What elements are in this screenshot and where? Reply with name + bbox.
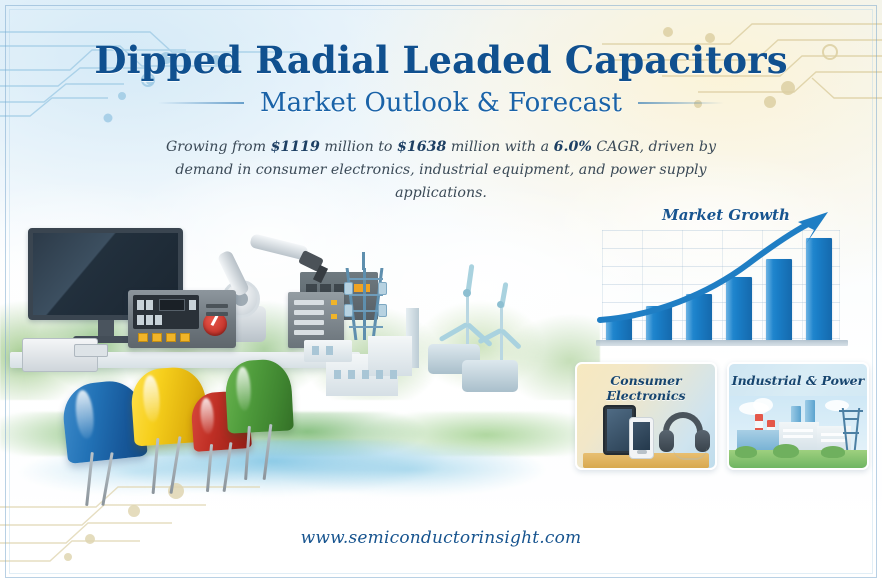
divider-left: [158, 102, 244, 104]
chart-bar: [766, 259, 792, 340]
end-value: $1638: [397, 139, 446, 155]
bush-icon: [773, 444, 799, 458]
capacitor-green: [224, 358, 294, 433]
bush-icon: [735, 446, 757, 458]
chart-bar: [606, 318, 632, 340]
industrial-plant-icon: [392, 330, 592, 440]
start-value: $1119: [271, 139, 320, 155]
capacitor-group: [50, 360, 300, 490]
capacitor-lead: [169, 436, 181, 494]
industrial-power-art: [729, 396, 867, 468]
chart-bar: [686, 294, 712, 340]
divider-right: [638, 102, 724, 104]
capacitor-lead: [152, 438, 159, 494]
panel-label: Consumer Electronics: [577, 373, 715, 403]
capacitor-lead: [206, 444, 213, 492]
footer-url[interactable]: www.semiconductorinsight.com: [0, 528, 882, 548]
panel-consumer-electronics[interactable]: Consumer Electronics: [575, 362, 717, 470]
chart-baseline: [596, 340, 848, 346]
capacitor-lead: [263, 424, 272, 480]
page-subtitle: Market Outlook & Forecast: [260, 88, 622, 118]
chart-bars: [602, 228, 852, 340]
summary-text-2: million to: [320, 139, 397, 155]
cagr-value: 6.0%: [554, 139, 592, 155]
market-growth-chart: Market Growth: [592, 208, 860, 346]
subtitle-row: Market Outlook & Forecast: [0, 88, 882, 118]
summary-text-1: Growing from: [166, 139, 271, 155]
bush-icon: [821, 446, 845, 458]
cloud-icon: [753, 398, 773, 412]
chart-bar: [646, 306, 672, 340]
chart-title: Market Growth: [592, 206, 860, 224]
smartphone-icon: [629, 417, 654, 459]
poster-header: Dipped Radial Leaded Capacitors Market O…: [0, 40, 882, 205]
panel-industrial-power[interactable]: Industrial & Power: [727, 362, 869, 470]
page-title: Dipped Radial Leaded Capacitors: [0, 40, 882, 81]
chart-bar: [806, 238, 832, 340]
market-summary: Growing from $1119 million to $1638 mill…: [146, 136, 736, 205]
power-pylon-icon: [841, 408, 861, 450]
consumer-electronics-art: [577, 396, 715, 468]
panel-label: Industrial & Power: [729, 373, 867, 388]
chart-bar: [726, 277, 752, 340]
test-instrument-icon: [128, 290, 236, 348]
summary-text-3: million with a: [446, 139, 553, 155]
infographic-poster: Dipped Radial Leaded Capacitors Market O…: [0, 0, 882, 583]
